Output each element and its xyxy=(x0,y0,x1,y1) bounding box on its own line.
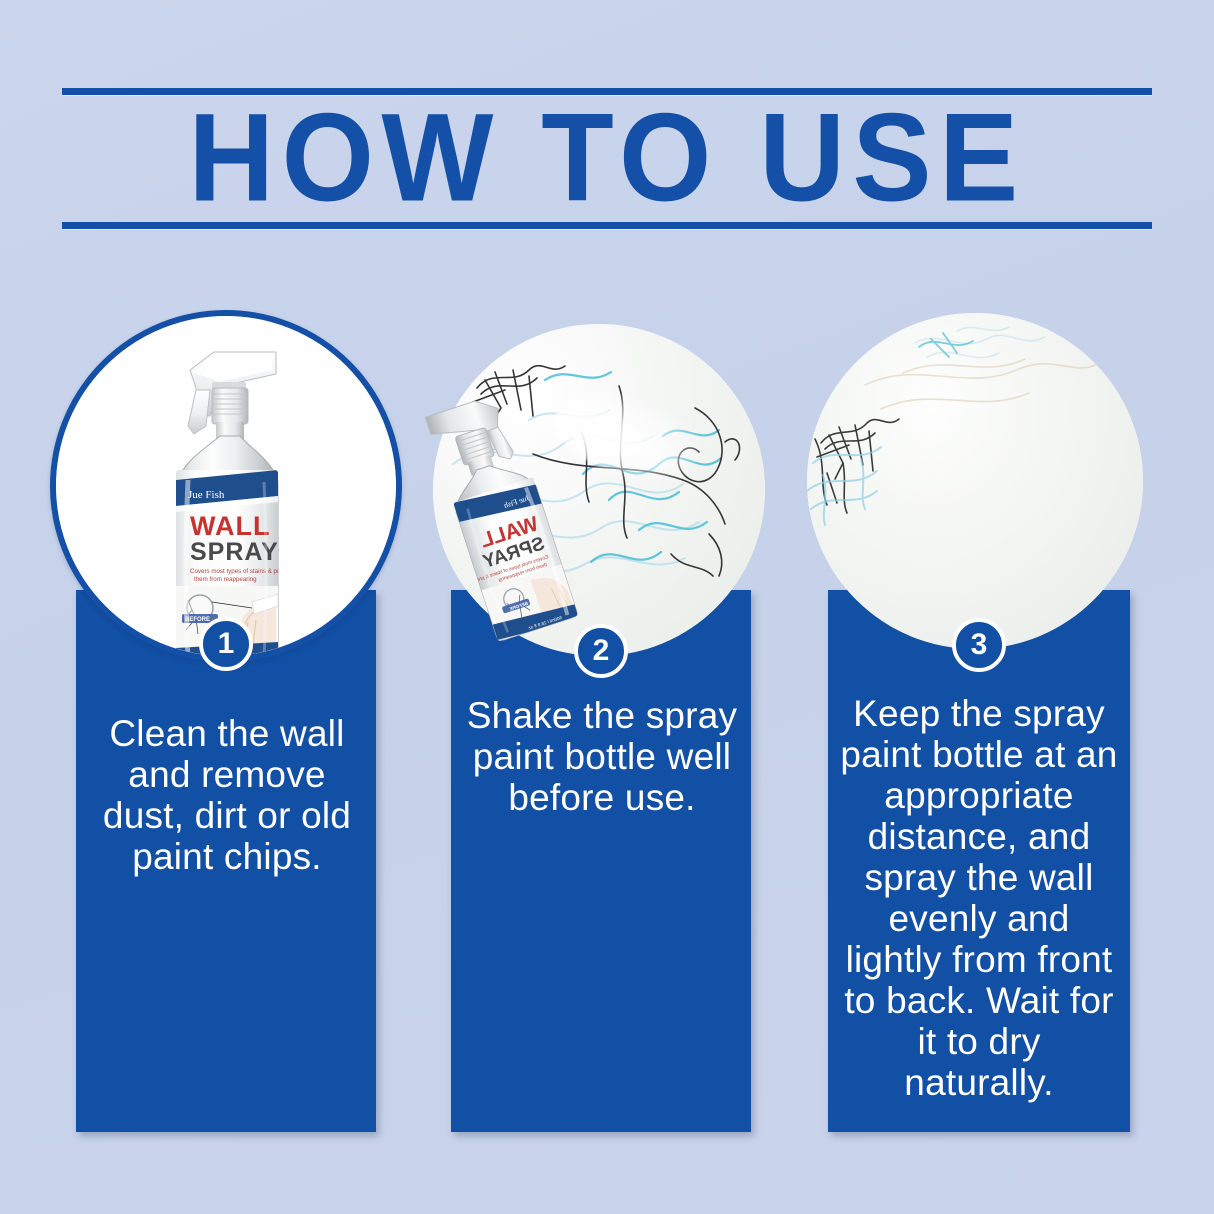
step-1-number: 1 xyxy=(218,627,235,660)
step-3-number-badge: 3 xyxy=(952,618,1006,672)
step-3-caption: Keep the spray paint bottle at an approp… xyxy=(838,693,1120,1103)
step-1-number-badge: 1 xyxy=(199,617,253,671)
infographic-page: HOW TO USE xyxy=(0,0,1214,1214)
step-2-number-badge: 2 xyxy=(574,624,628,678)
svg-text:them from reappearing: them from reappearing xyxy=(194,576,257,583)
svg-text:Jue Fish: Jue Fish xyxy=(188,489,225,501)
step-3-image-circle xyxy=(807,313,1143,649)
step-1-photo: Jue Fish WALL SPRAY Covers most types of… xyxy=(56,316,396,656)
wall-spray-bottle: Jue Fish WALL SPRAY Covers most types of… xyxy=(152,330,302,656)
svg-text:Covers most types of stains &: Covers most types of stains & prevents xyxy=(190,568,297,575)
step-1-image-circle: Jue Fish WALL SPRAY Covers most types of… xyxy=(50,310,402,662)
svg-text:WALL: WALL xyxy=(190,511,270,541)
step-3-number: 3 xyxy=(971,628,988,661)
step-3-photo xyxy=(807,313,1143,649)
step-2-caption: Shake the spray paint bottle well before… xyxy=(461,695,743,818)
step-1-caption: Clean the wall and remove dust, dirt or … xyxy=(86,713,368,877)
residual-scribbles xyxy=(807,313,1143,649)
step-2-number: 2 xyxy=(593,634,610,667)
